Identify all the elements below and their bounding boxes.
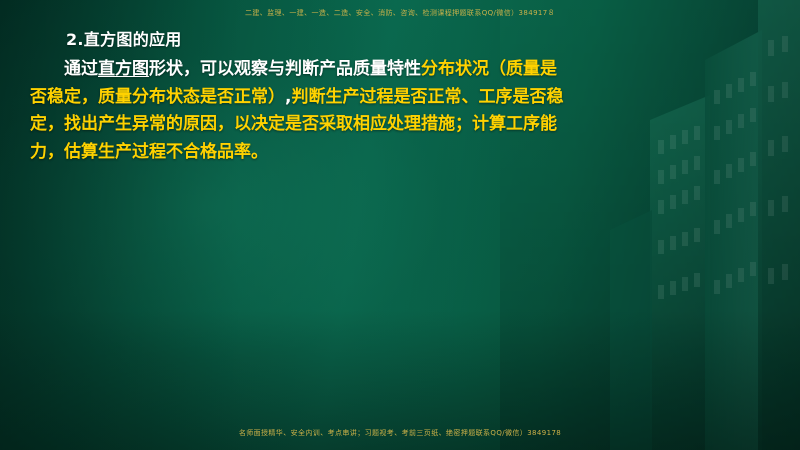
top-watermark-banner: 二建、监理、一建、一造、二造、安全、消防、咨询、检测课程押题联系QQ/微信）38… (0, 8, 800, 18)
body-paragraph: 通过直方图形状，可以观察与判断产品质量特性分布状况（质量是否稳定，质量分布状态是… (0, 56, 800, 166)
bottom-watermark-banner: 名师面授精华、安全内训、考点串讲；习题视考、考前三页纸、绝密押题联系QQ/微信）… (0, 428, 800, 438)
page-title: 2.直方图的应用 (0, 26, 800, 50)
slide-canvas: 二建、监理、一建、一造、二造、安全、消防、咨询、检测课程押题联系QQ/微信）38… (0, 0, 800, 450)
paragraph-segment-underlined: 直方图 (98, 59, 149, 79)
paragraph-segment-3: 形状，可以观察与判断产品质量特性 (149, 59, 421, 79)
paragraph-segment-1: 通过 (64, 59, 98, 79)
slide-content: 2.直方图的应用 通过直方图形状，可以观察与判断产品质量特性分布状况（质量是否稳… (0, 26, 800, 166)
paragraph-highlight-3: 找出产生异常的原因，以决定是否采取相应处理措施； (64, 114, 472, 134)
